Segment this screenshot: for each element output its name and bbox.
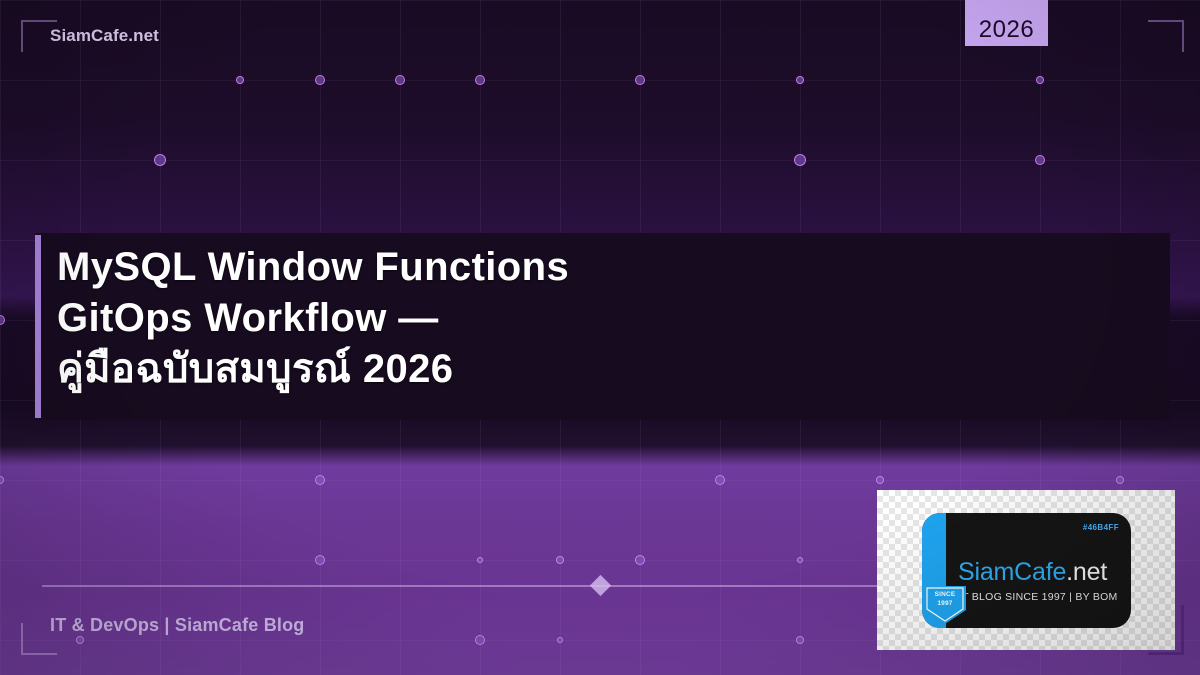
background-dot <box>315 75 325 85</box>
social-card-banner: SiamCafe.net 2026 MySQL Window Functions… <box>0 0 1200 675</box>
logo-wordmark: SiamCafe.net <box>958 558 1107 587</box>
title-accent-bar <box>35 235 41 418</box>
background-dot <box>477 557 483 563</box>
logo-tagline: IT BLOG SINCE 1997 | BY BOM <box>959 591 1117 603</box>
background-dot <box>1116 476 1124 484</box>
logo-wordmark-suffix: .net <box>1066 558 1107 586</box>
background-dot <box>715 475 725 485</box>
background-dot <box>1035 155 1045 165</box>
corner-bracket-top-right <box>1148 20 1184 52</box>
logo-hex-code: #46B4FF <box>1083 523 1119 532</box>
brand-name: SiamCafe.net <box>50 26 159 46</box>
background-dot <box>796 636 804 644</box>
background-dot <box>635 555 645 565</box>
page-title: MySQL Window Functions GitOps Workflow —… <box>57 242 1157 395</box>
diamond-marker-icon <box>590 575 611 596</box>
background-dot <box>0 476 4 484</box>
background-dot <box>475 635 485 645</box>
logo-wordmark-primary: SiamCafe <box>958 558 1066 586</box>
since-ribbon-line1: SINCE <box>924 590 966 599</box>
background-dot <box>557 637 563 643</box>
background-dot <box>236 76 244 84</box>
footer-divider <box>42 585 885 587</box>
background-dot <box>797 557 803 563</box>
background-dot <box>395 75 405 85</box>
background-dot <box>76 636 84 644</box>
background-dot <box>635 75 645 85</box>
year-badge: 2026 <box>965 0 1048 46</box>
logo-card: #46B4FF SiamCafe.net IT BLOG SINCE 1997 … <box>877 490 1175 650</box>
year-badge-label: 2026 <box>979 16 1034 44</box>
background-dot <box>796 76 804 84</box>
background-dot <box>0 315 5 325</box>
since-ribbon-text: SINCE 1997 <box>924 590 966 608</box>
background-dot <box>315 555 325 565</box>
background-dot <box>475 75 485 85</box>
background-dot <box>794 154 806 166</box>
background-dot <box>154 154 166 166</box>
logo-badge: #46B4FF SiamCafe.net IT BLOG SINCE 1997 … <box>922 513 1131 628</box>
background-dot <box>1036 76 1044 84</box>
background-dot <box>876 476 884 484</box>
title-panel: MySQL Window Functions GitOps Workflow —… <box>35 233 1170 420</box>
since-ribbon-line2: 1997 <box>924 599 966 608</box>
since-ribbon-icon: SINCE 1997 <box>924 586 966 624</box>
background-dot <box>556 556 564 564</box>
footer-label: IT & DevOps | SiamCafe Blog <box>50 615 305 636</box>
background-dot <box>315 475 325 485</box>
